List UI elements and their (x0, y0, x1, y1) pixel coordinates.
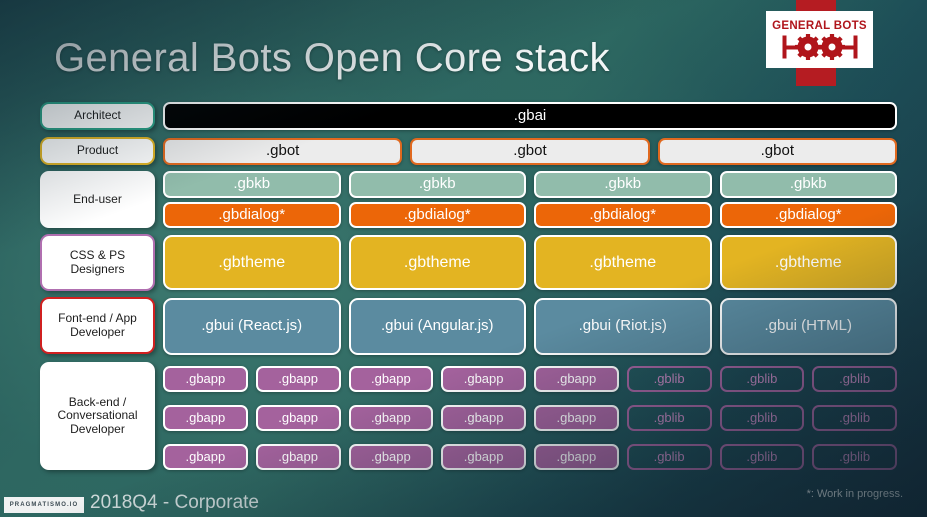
role-label-text: Product (77, 144, 118, 157)
role-front-end[interactable]: Font-end / App Developer (40, 297, 155, 354)
box-gblib-label: .gblib (746, 411, 777, 426)
box-gbapp[interactable]: .gbapp (349, 444, 434, 470)
box-gbkb[interactable]: .gbkb (349, 171, 527, 198)
box-gblib[interactable]: .gblib (812, 366, 897, 392)
box-gblib-label: .gblib (654, 450, 685, 465)
box-gbkb[interactable]: .gbkb (534, 171, 712, 198)
box-gbdialog[interactable]: .gbdialog* (163, 202, 341, 228)
box-gblib-label: .gblib (839, 450, 870, 465)
box-gblib-label: .gblib (654, 372, 685, 387)
general-bots-logo: GENERAL BOTS (766, 0, 876, 90)
slide-canvas: GENERAL BOTS (0, 0, 927, 517)
box-gbot-label: .gbot (266, 143, 299, 160)
box-gbui[interactable]: .gbui (React.js) (163, 298, 341, 355)
box-gbapp[interactable]: .gbapp (441, 444, 526, 470)
box-gbot-label: .gbot (761, 143, 794, 160)
box-gbui-label: .gbui (Angular.js) (381, 318, 494, 335)
box-gbot[interactable]: .gbot (163, 138, 402, 165)
box-gbapp[interactable]: .gbapp (441, 366, 526, 392)
box-gbtheme[interactable]: .gbtheme (534, 235, 712, 290)
box-gbtheme-label: .gbtheme (589, 254, 656, 272)
box-gbkb-label: .gbkb (233, 176, 270, 193)
box-gblib[interactable]: .gblib (720, 444, 805, 470)
logo-wordmark: GENERAL BOTS (772, 20, 867, 32)
box-gbapp[interactable]: .gbapp (163, 366, 248, 392)
logo-card: GENERAL BOTS (766, 11, 873, 68)
box-gblib-label: .gblib (839, 372, 870, 387)
box-gbui-label: .gbui (Riot.js) (579, 318, 667, 335)
box-gbui-label: .gbui (HTML) (764, 318, 852, 335)
box-gblib[interactable]: .gblib (627, 405, 712, 431)
role-label-text: Font-end / App Developer (58, 312, 137, 339)
box-gbapp-label: .gbapp (278, 411, 318, 426)
box-gbkb-label: .gbkb (419, 176, 456, 193)
box-gbapp-label: .gbapp (556, 450, 596, 465)
box-gbapp-label: .gbapp (464, 372, 504, 387)
role-css-ps[interactable]: CSS & PS Designers (40, 234, 155, 291)
box-gbot[interactable]: .gbot (658, 138, 897, 165)
box-gblib-label: .gblib (839, 411, 870, 426)
box-gbapp-label: .gbapp (185, 450, 225, 465)
box-gbkb-label: .gbkb (790, 176, 827, 193)
box-gbai-label: .gbai (514, 108, 547, 125)
box-gbkb[interactable]: .gbkb (720, 171, 898, 198)
footnote-work-in-progress: *: Work in progress. (807, 488, 903, 500)
box-gbapp[interactable]: .gbapp (349, 405, 434, 431)
box-gbapp-label: .gbapp (278, 450, 318, 465)
box-gblib-label: .gblib (746, 450, 777, 465)
box-gbapp[interactable]: .gbapp (256, 444, 341, 470)
box-gbapp[interactable]: .gbapp (534, 444, 619, 470)
box-gblib-label: .gblib (746, 372, 777, 387)
box-gbapp[interactable]: .gbapp (256, 405, 341, 431)
role-label-text: Architect (74, 109, 121, 122)
box-gbapp-label: .gbapp (278, 372, 318, 387)
pragmatismo-logo: PRAGMATISMO.IO (4, 497, 84, 513)
box-gbapp[interactable]: .gbapp (534, 405, 619, 431)
role-end-user[interactable]: End-user (40, 171, 155, 228)
box-gbtheme-label: .gbtheme (404, 254, 471, 272)
page-title: General Bots Open Core stack (54, 36, 610, 81)
box-gbot[interactable]: .gbot (410, 138, 649, 165)
box-gbdialog[interactable]: .gbdialog* (349, 202, 527, 228)
box-gblib[interactable]: .gblib (812, 405, 897, 431)
box-gbdialog-label: .gbdialog* (589, 207, 656, 224)
box-gbapp-label: .gbapp (371, 411, 411, 426)
box-gbot-label: .gbot (513, 143, 546, 160)
box-gbdialog[interactable]: .gbdialog* (534, 202, 712, 228)
role-product[interactable]: Product (40, 137, 155, 165)
box-gbui[interactable]: .gbui (Angular.js) (349, 298, 527, 355)
box-gbui[interactable]: .gbui (HTML) (720, 298, 898, 355)
box-gbapp-label: .gbapp (185, 372, 225, 387)
gears-icon (780, 34, 860, 60)
box-gbui-label: .gbui (React.js) (201, 318, 302, 335)
box-gbdialog-label: .gbdialog* (775, 207, 842, 224)
role-back-end[interactable]: Back-end / Conversational Developer (40, 362, 155, 470)
box-gbapp-label: .gbapp (464, 411, 504, 426)
pragmatismo-wordmark: PRAGMATISMO.IO (10, 502, 79, 508)
box-gbdialog-label: .gbdialog* (218, 207, 285, 224)
role-label-text: End-user (73, 193, 122, 206)
box-gblib[interactable]: .gblib (720, 366, 805, 392)
box-gbtheme[interactable]: .gbtheme (349, 235, 527, 290)
box-gbapp[interactable]: .gbapp (534, 366, 619, 392)
footer-date: 2018Q4 - Corporate (90, 492, 259, 514)
role-label-text: CSS & PS Designers (70, 249, 125, 276)
box-gbtheme-label: .gbtheme (218, 254, 285, 272)
box-gbai[interactable]: .gbai (163, 102, 897, 130)
box-gbapp[interactable]: .gbapp (256, 366, 341, 392)
box-gblib-label: .gblib (654, 411, 685, 426)
box-gbapp-label: .gbapp (371, 450, 411, 465)
box-gblib[interactable]: .gblib (627, 444, 712, 470)
box-gbtheme[interactable]: .gbtheme (163, 235, 341, 290)
box-gbapp[interactable]: .gbapp (163, 405, 248, 431)
box-gbkb[interactable]: .gbkb (163, 171, 341, 198)
box-gbapp[interactable]: .gbapp (441, 405, 526, 431)
box-gblib[interactable]: .gblib (812, 444, 897, 470)
box-gbdialog-label: .gbdialog* (404, 207, 471, 224)
role-label-text: Back-end / Conversational Developer (57, 396, 137, 436)
box-gbkb-label: .gbkb (604, 176, 641, 193)
box-gbapp[interactable]: .gbapp (163, 444, 248, 470)
box-gbapp-label: .gbapp (371, 372, 411, 387)
box-gblib[interactable]: .gblib (720, 405, 805, 431)
box-gbapp-label: .gbapp (185, 411, 225, 426)
box-gbapp-label: .gbapp (464, 450, 504, 465)
role-architect[interactable]: Architect (40, 102, 155, 130)
box-gbtheme[interactable]: .gbtheme (720, 235, 898, 290)
box-gbapp-label: .gbapp (556, 372, 596, 387)
box-gbapp[interactable]: .gbapp (349, 366, 434, 392)
box-gblib[interactable]: .gblib (627, 366, 712, 392)
box-gbapp-label: .gbapp (556, 411, 596, 426)
box-gbui[interactable]: .gbui (Riot.js) (534, 298, 712, 355)
box-gbdialog[interactable]: .gbdialog* (720, 202, 898, 228)
box-gbtheme-label: .gbtheme (775, 254, 842, 272)
